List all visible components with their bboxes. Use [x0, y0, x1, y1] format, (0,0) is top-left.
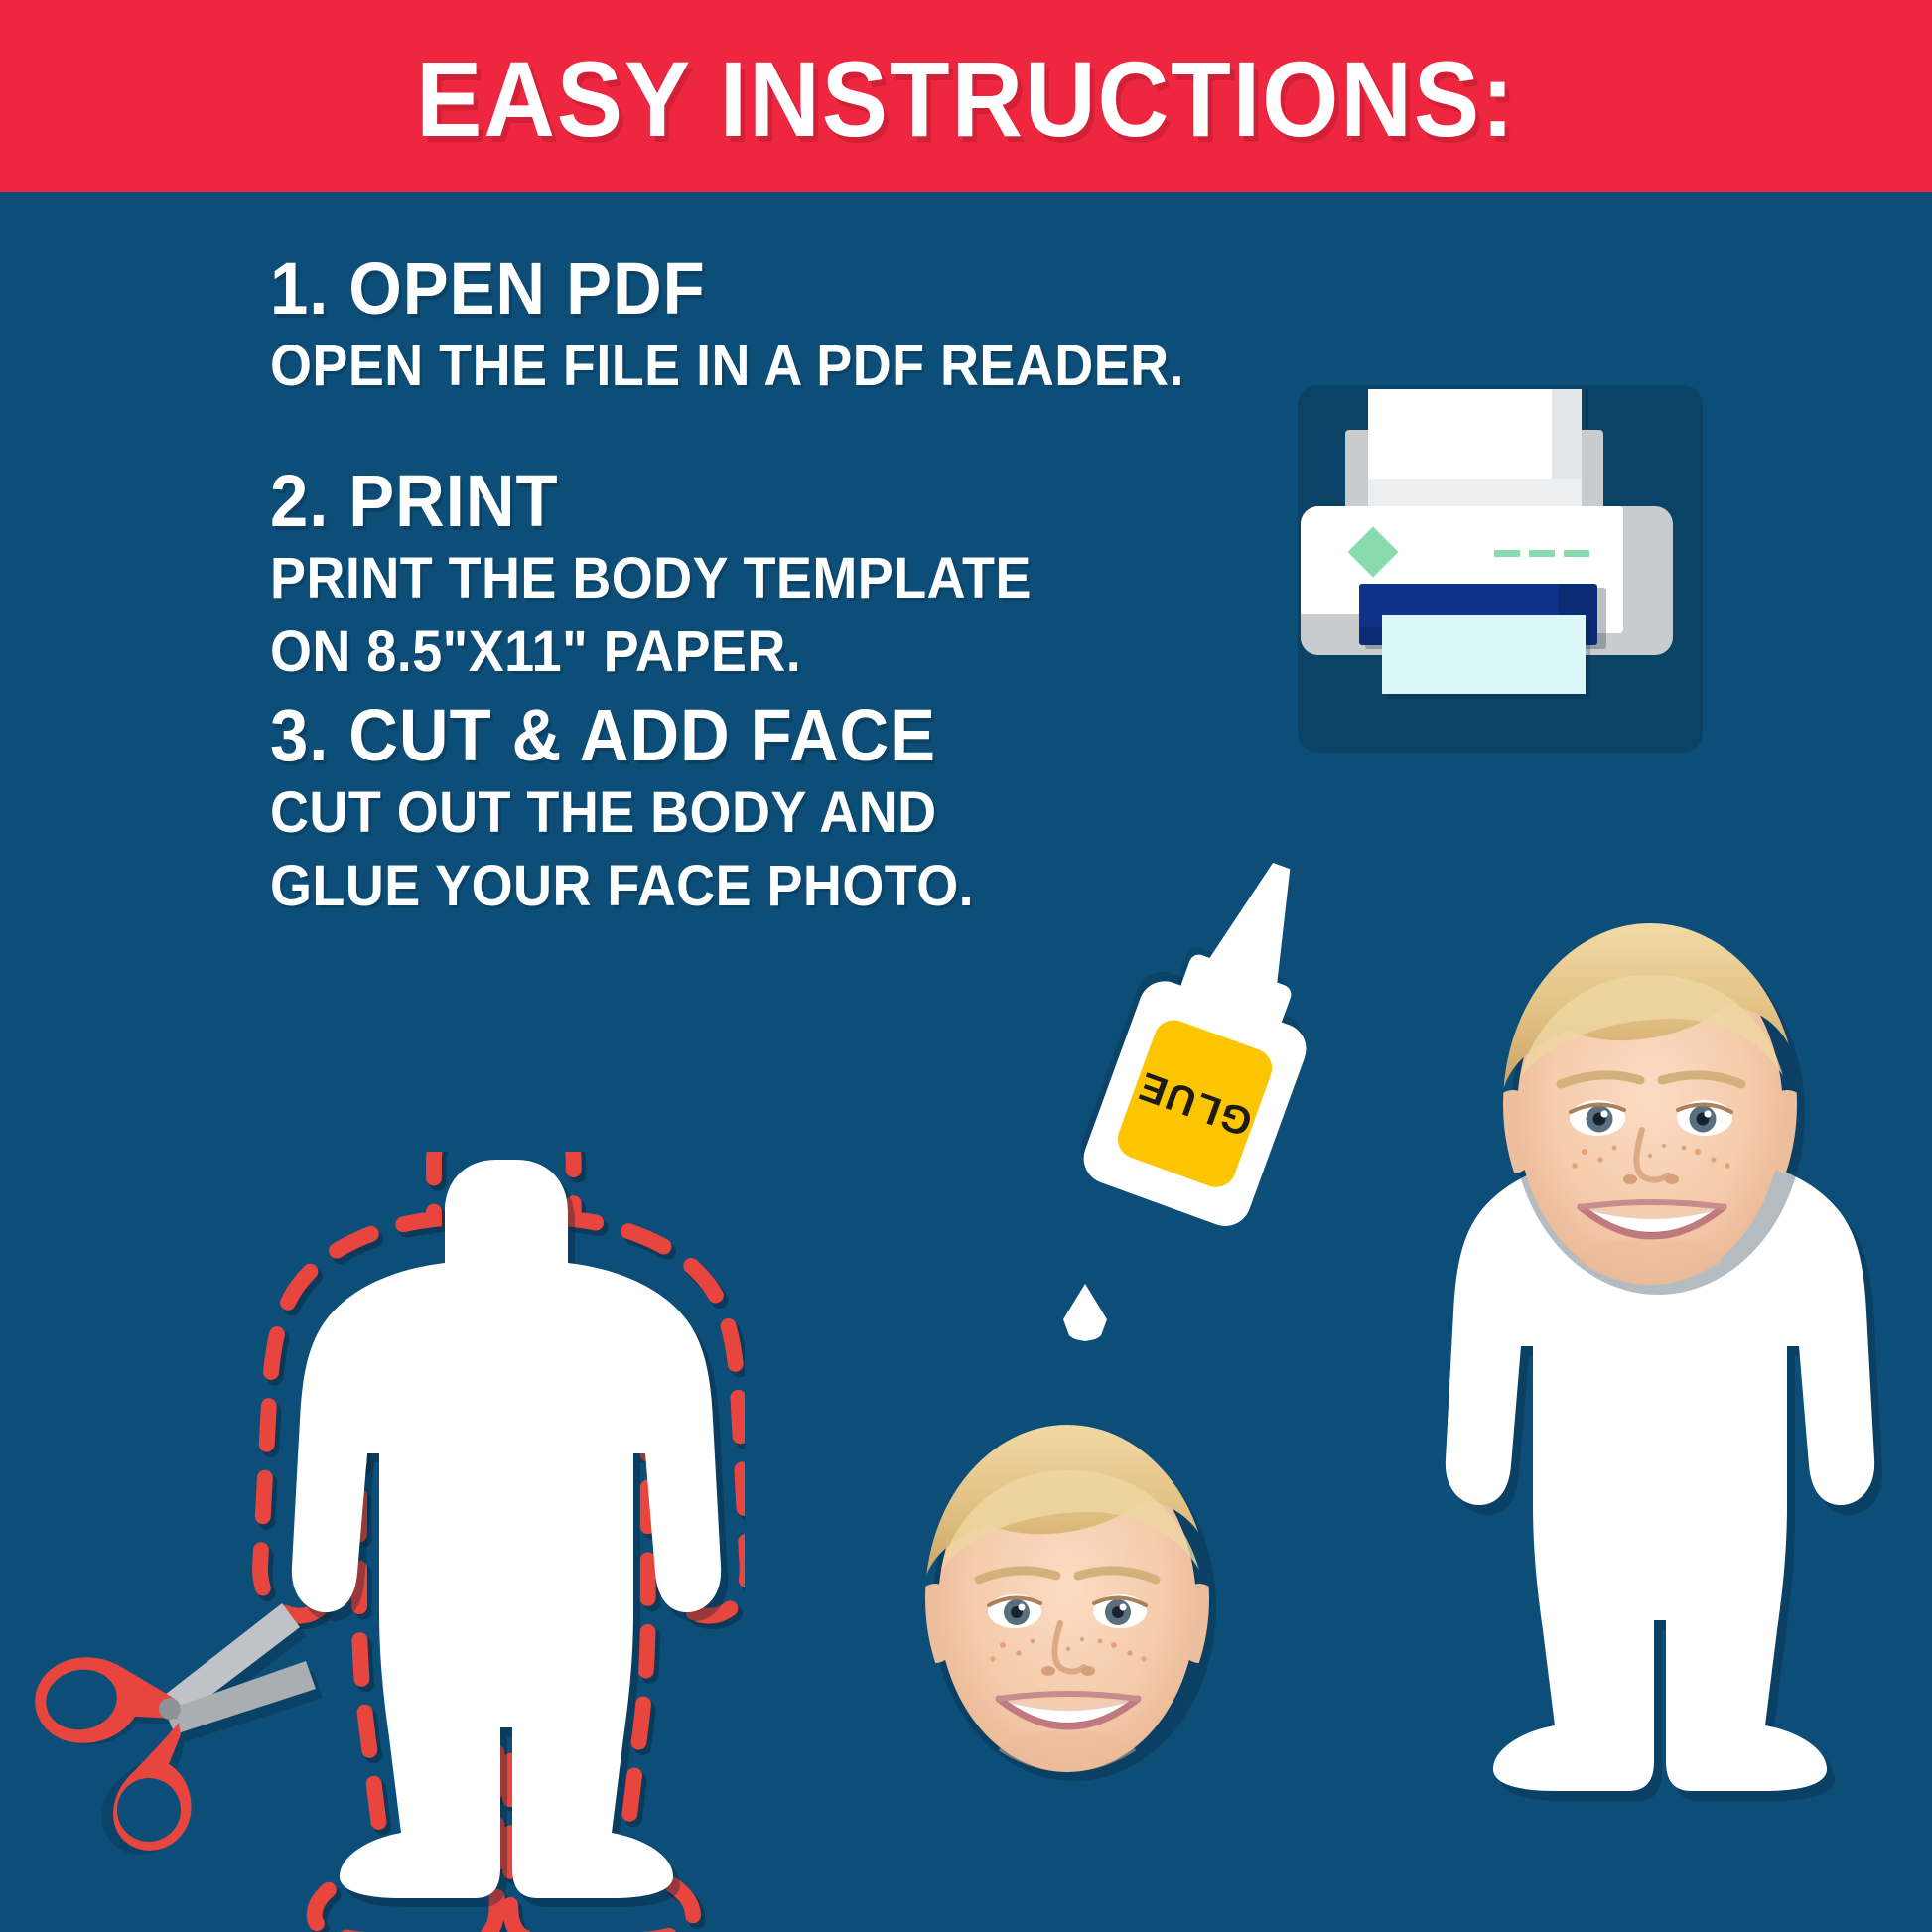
scissors-pivot-icon	[159, 1698, 181, 1720]
step-1-title: 1. OPEN PDF	[270, 248, 1184, 330]
step-3-title: 3. CUT & ADD FACE	[270, 695, 974, 776]
glue-bottle-tip	[1205, 853, 1316, 991]
step-2-title: 2. PRINT	[270, 461, 1032, 542]
printer-dash-indicator-3-icon	[1564, 550, 1589, 557]
cut-out-face-photo	[884, 1385, 1251, 1792]
scissors-icon	[20, 1574, 338, 1901]
assembled-figure	[1390, 884, 1906, 1932]
step-2-line-1: PRINT THE BODY TEMPLATE	[270, 542, 1032, 616]
step-3-line-1: CUT OUT THE BODY AND	[270, 776, 974, 850]
glue-drop-icon	[1063, 1284, 1107, 1341]
glue-bottle-body-group: GLUE	[1054, 951, 1319, 1234]
printer-icon	[1286, 367, 1703, 764]
printer-dash-indicator-1-icon	[1494, 550, 1520, 557]
glue-bottle-icon: GLUE	[1028, 978, 1345, 1375]
step-2: 2. PRINT PRINT THE BODY TEMPLATE ON 8.5"…	[270, 461, 1089, 689]
printer-dash-indicator-2-icon	[1529, 550, 1555, 557]
page-title: EASY INSTRUCTIONS:	[77, 46, 1855, 153]
step-1-line-1: OPEN THE FILE IN A PDF READER.	[270, 330, 1184, 403]
step-1: 1. OPEN PDF OPEN THE FILE IN A PDF READE…	[270, 248, 1253, 403]
step-3-line-2: GLUE YOUR FACE PHOTO.	[270, 850, 974, 923]
glue-label-text: GLUE	[1112, 1015, 1277, 1193]
glue-bottle-label: GLUE	[1112, 1015, 1277, 1193]
step-2-line-2: ON 8.5"X11" PAPER.	[270, 616, 1032, 689]
printer-front-base	[1301, 614, 1360, 655]
printer-output-paper	[1382, 615, 1586, 694]
step-3: 3. CUT & ADD FACE CUT OUT THE BODY AND G…	[270, 695, 1027, 923]
poster-canvas: EASY INSTRUCTIONS: 1. OPEN PDF OPEN THE …	[0, 0, 1932, 1932]
